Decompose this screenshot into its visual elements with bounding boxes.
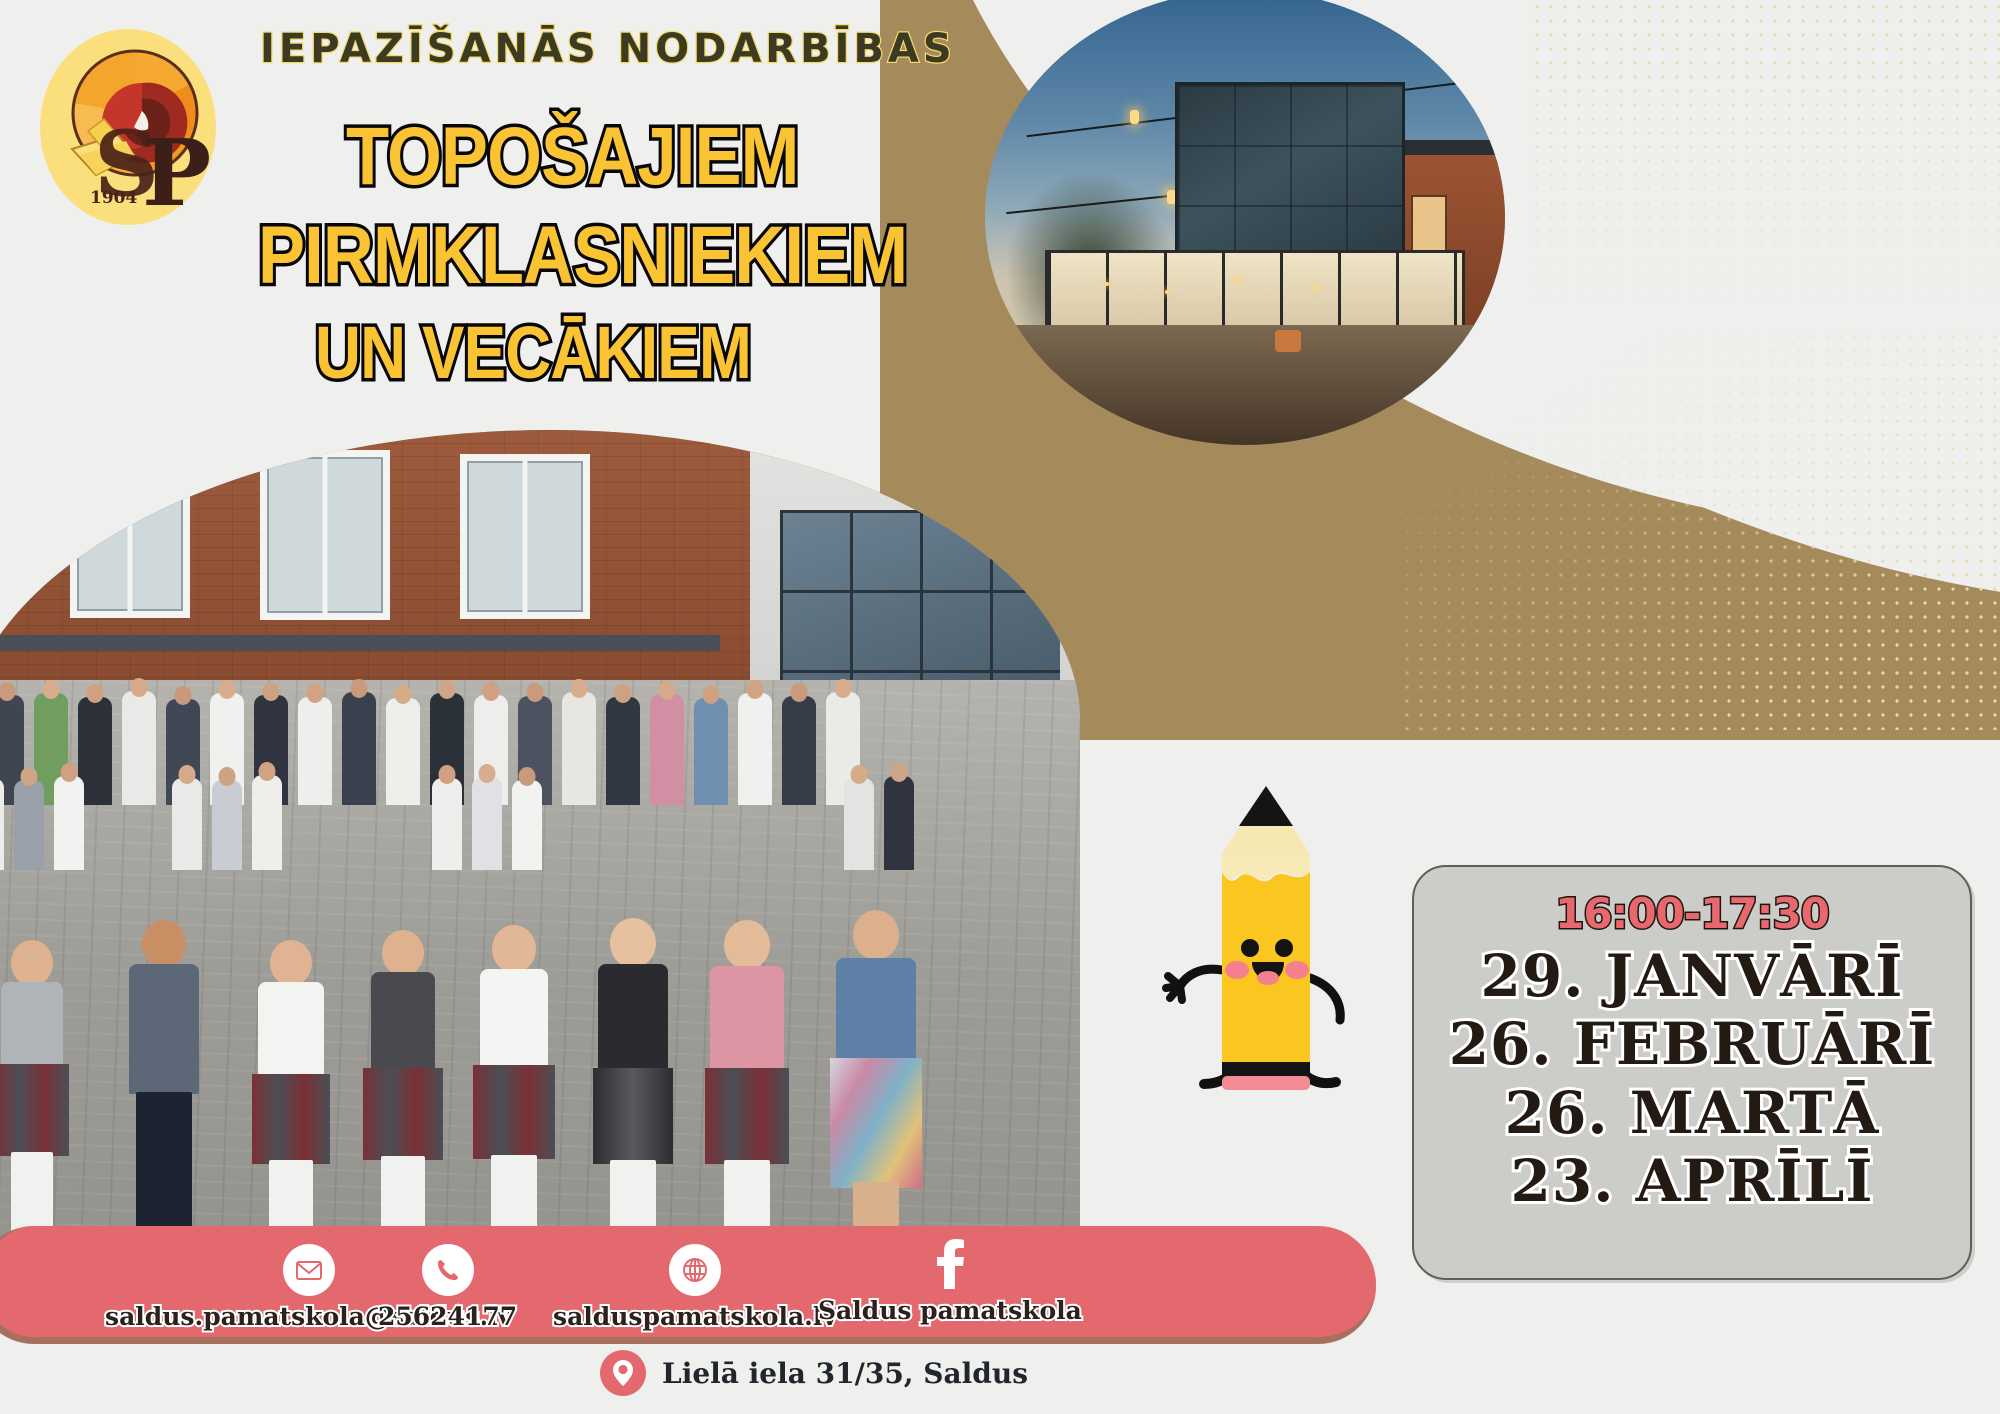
- kp-window-2: [260, 450, 390, 620]
- kp-skirt: [830, 1058, 922, 1188]
- kp-foreground-child: [360, 930, 446, 1270]
- kp-crowd-mid: [0, 730, 1080, 870]
- pencil-wood-collar: [1222, 854, 1310, 880]
- kp-window-3: [460, 454, 590, 619]
- photo-planter: [1275, 330, 1301, 352]
- pencil-tongue: [1257, 971, 1279, 985]
- kp-head: [142, 920, 186, 968]
- photo-window-3: [1411, 195, 1447, 257]
- kp-window-1: [70, 458, 190, 618]
- kp-head: [11, 940, 53, 986]
- kp-head: [179, 765, 196, 784]
- email-icon: [283, 1244, 335, 1296]
- kp-head: [747, 680, 764, 699]
- contact-phone[interactable]: 25624177: [378, 1244, 517, 1331]
- kp-head: [131, 678, 148, 697]
- svg-text:P: P: [142, 119, 211, 227]
- pencil-left-cheek: [1225, 961, 1249, 979]
- kp-head: [87, 684, 104, 703]
- contact-website-label: salduspamatskola.lv: [553, 1302, 837, 1331]
- schedule-card: 16:00-17:30 29. JANVĀRĪ 26. FEBRUĀRĪ 26.…: [1412, 865, 1972, 1280]
- kp-head: [519, 767, 536, 786]
- kp-person: [172, 778, 202, 870]
- kp-head: [259, 762, 276, 781]
- kp-person: [54, 776, 84, 870]
- students-schoolyard-photo: [0, 430, 1080, 1270]
- kp-head: [527, 683, 544, 702]
- headline-line-1: TOPOŠAJIEM: [346, 118, 908, 197]
- headline-block: TOPOŠAJIEM PIRMKLASNIEKIEM UN VECĀKIEM: [320, 118, 1000, 388]
- kp-head: [853, 910, 899, 960]
- kp-head: [479, 764, 496, 783]
- contact-facebook-label: Saldus pamatskola: [818, 1296, 1082, 1325]
- kp-head: [439, 680, 456, 699]
- kp-person: [844, 778, 874, 870]
- pencil-right-arm: [1310, 978, 1340, 1020]
- school-logo: 1904 S P: [38, 27, 218, 227]
- dot-pattern-upper: [1530, 0, 2000, 330]
- pencil-ferrule: [1222, 1062, 1310, 1078]
- kp-foreground-child: [702, 920, 792, 1270]
- kp-person: [884, 776, 914, 870]
- kp-head: [492, 925, 536, 973]
- kp-head: [43, 680, 60, 699]
- pencil-right-eye: [1275, 939, 1293, 957]
- kp-person: [252, 775, 282, 870]
- kp-head: [851, 765, 868, 784]
- headline-line-3: UN VECĀKIEM: [315, 317, 904, 388]
- location-pin-icon: [600, 1350, 646, 1396]
- kp-person: [14, 780, 44, 870]
- kp-head: [659, 681, 676, 700]
- kp-torso: [480, 969, 548, 1069]
- kp-head: [791, 683, 808, 702]
- pencil-left-eye: [1241, 939, 1259, 957]
- kp-head: [891, 763, 908, 782]
- poster-canvas: 1904 S P IEPAZĪŠANĀS NODARBĪBAS TOPOŠAJI…: [0, 0, 2000, 1414]
- kp-head: [483, 682, 500, 701]
- kp-person: [212, 780, 242, 870]
- pencil-mascot-graphic: [1160, 780, 1390, 1100]
- address-row: Lielā iela 31/35, Saldus: [600, 1350, 1028, 1396]
- kp-head: [175, 686, 192, 705]
- kp-torso: [129, 964, 199, 1094]
- pencil-mascot: [1160, 780, 1390, 1100]
- pencil-right-cheek: [1285, 961, 1309, 979]
- kp-head: [21, 767, 38, 786]
- kp-head: [270, 940, 312, 986]
- kp-skirt: [252, 1074, 330, 1164]
- kp-foreground-child: [120, 920, 208, 1270]
- kp-foreground-child: [470, 925, 558, 1270]
- logo-graphic: 1904 S P: [38, 27, 218, 227]
- kp-torso: [598, 964, 668, 1072]
- globe-icon: [669, 1244, 721, 1296]
- kp-head: [307, 684, 324, 703]
- facebook-icon: [924, 1238, 976, 1290]
- kp-head: [835, 679, 852, 698]
- photo-twinkle-1: [1105, 282, 1109, 286]
- kp-head: [61, 763, 78, 782]
- kp-head: [395, 685, 412, 704]
- kp-head: [615, 684, 632, 703]
- phone-icon: [422, 1244, 474, 1296]
- pencil-graphite: [1239, 786, 1293, 826]
- kp-skirt: [593, 1068, 673, 1164]
- kp-skirt: [363, 1068, 443, 1160]
- schedule-date-2: 26. FEBRUĀRĪ: [1449, 1010, 1936, 1078]
- kp-head: [219, 680, 236, 699]
- pencil-eraser: [1222, 1076, 1310, 1090]
- kp-foreground-child: [248, 940, 334, 1270]
- schedule-date-1: 29. JANVĀRĪ: [1481, 942, 1904, 1010]
- schedule-date-4: 23. APRĪLĪ: [1511, 1147, 1874, 1215]
- kp-head: [439, 765, 456, 784]
- kp-skirt: [705, 1068, 789, 1164]
- kp-head: [610, 918, 656, 968]
- kp-head: [703, 685, 720, 704]
- kp-person: [0, 778, 4, 870]
- photo-twinkle-2: [1165, 290, 1169, 294]
- contact-website[interactable]: salduspamatskola.lv: [553, 1244, 837, 1331]
- photo-twinkle-4: [1315, 286, 1319, 290]
- kp-person: [472, 777, 502, 870]
- schedule-time: 16:00-17:30: [1555, 889, 1829, 938]
- address-label: Lielā iela 31/35, Saldus: [662, 1357, 1028, 1390]
- kp-torso: [1, 982, 63, 1068]
- kp-head: [263, 682, 280, 701]
- kp-head: [219, 767, 236, 786]
- kp-torso: [836, 958, 916, 1062]
- kp-torso: [710, 966, 784, 1072]
- headline-line-2: PIRMKLASNIEKIEM: [258, 217, 896, 296]
- school-building-photo: [985, 0, 1505, 445]
- kp-torso: [258, 982, 324, 1078]
- photo-twinkle-3: [1235, 278, 1239, 282]
- kp-head: [382, 930, 424, 976]
- contact-bar: saldus.pamatskola@saldus.lv 25624177 sal…: [0, 1226, 1376, 1344]
- kp-head: [351, 679, 368, 698]
- photo-foreground: [985, 325, 1505, 445]
- kp-foreground-child: [588, 918, 678, 1270]
- kp-head: [0, 682, 16, 701]
- kp-head: [571, 679, 588, 698]
- kp-foreground-adult: [828, 910, 924, 1270]
- kp-person: [512, 780, 542, 870]
- kp-skirt: [0, 1064, 69, 1156]
- kp-foreground-child: [0, 940, 74, 1270]
- photo-bulb-1: [1130, 110, 1139, 124]
- eyebrow-text: IEPAZĪŠANĀS NODARBĪBAS: [260, 26, 956, 72]
- contact-phone-label: 25624177: [378, 1302, 517, 1331]
- pencil-left-arm: [1180, 969, 1222, 986]
- schedule-date-3: 26. MARTĀ: [1505, 1079, 1880, 1147]
- kp-torso: [371, 972, 435, 1072]
- kp-skirt: [473, 1065, 555, 1159]
- kp-head: [724, 920, 770, 970]
- kp-person: [432, 778, 462, 870]
- contact-facebook[interactable]: Saldus pamatskola: [818, 1238, 1082, 1325]
